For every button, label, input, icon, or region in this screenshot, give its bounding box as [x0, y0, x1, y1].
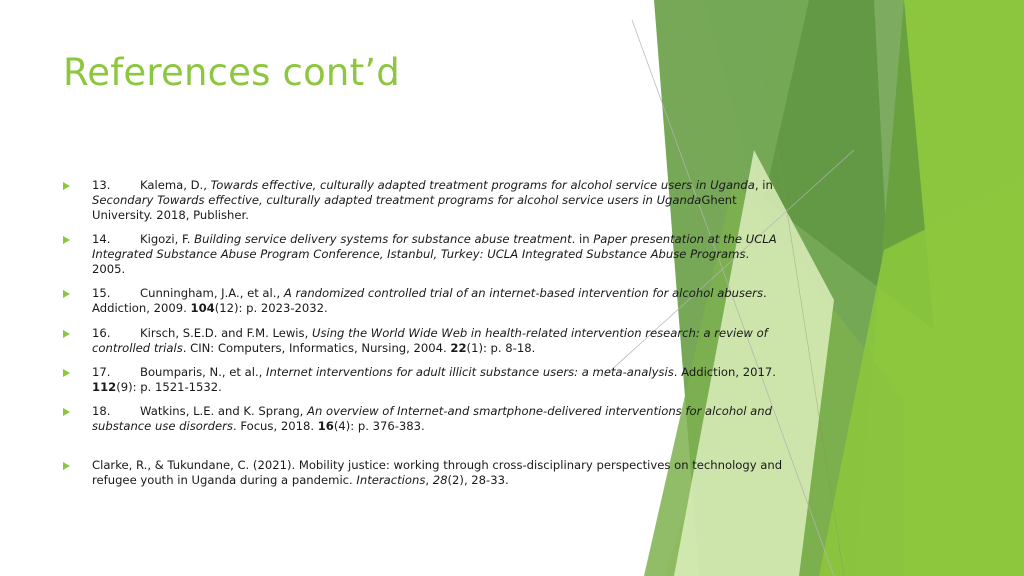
- slide-canvas: References cont’d 13.Kalema, D., Towards…: [0, 0, 1024, 576]
- triangle-bullet: [63, 330, 70, 338]
- reference-text: Watkins, L.E. and K. Sprang, An overview…: [92, 404, 772, 433]
- reference-number: 14.: [92, 232, 140, 247]
- reference-list: 13.Kalema, D., Towards effective, cultur…: [60, 178, 785, 497]
- shape-dark-green-wedge: [764, 0, 934, 330]
- triangle-bullet: [63, 462, 70, 470]
- reference-number: 18.: [92, 404, 140, 419]
- reference-text: Kirsch, S.E.D. and F.M. Lewis, Using the…: [92, 326, 768, 355]
- triangle-bullet: [63, 182, 70, 190]
- reference-item: 16.Kirsch, S.E.D. and F.M. Lewis, Using …: [60, 326, 785, 356]
- shape-bright-green-overlay: [819, 180, 1024, 576]
- reference-number: 16.: [92, 326, 140, 341]
- reference-item: 14.Kigozi, F. Building service delivery …: [60, 232, 785, 277]
- reference-number: 15.: [92, 286, 140, 301]
- page-title: References cont’d: [63, 52, 703, 95]
- triangle-bullet: [63, 236, 70, 244]
- reference-text: Cunningham, J.A., et al., A randomized c…: [92, 286, 767, 315]
- reference-item: 15.Cunningham, J.A., et al., A randomize…: [60, 286, 785, 316]
- reference-text: Clarke, R., & Tukundane, C. (2021). Mobi…: [92, 458, 782, 487]
- reference-number: 17.: [92, 365, 140, 380]
- reference-item: 18.Watkins, L.E. and K. Sprang, An overv…: [60, 404, 785, 434]
- triangle-bullet: [63, 369, 70, 377]
- reference-item: Clarke, R., & Tukundane, C. (2021). Mobi…: [60, 458, 785, 488]
- reference-item: 17.Boumparis, N., et al., Internet inter…: [60, 365, 785, 395]
- reference-text: Kalema, D., Towards effective, culturall…: [92, 178, 773, 222]
- reference-text: Kigozi, F. Building service delivery sys…: [92, 232, 777, 276]
- reference-number: 13.: [92, 178, 140, 193]
- reference-text: Boumparis, N., et al., Internet interven…: [92, 365, 776, 394]
- triangle-bullet: [63, 290, 70, 298]
- reference-item: 13.Kalema, D., Towards effective, cultur…: [60, 178, 785, 223]
- triangle-bullet: [63, 408, 70, 416]
- shape-bright-green-right: [854, 0, 1024, 576]
